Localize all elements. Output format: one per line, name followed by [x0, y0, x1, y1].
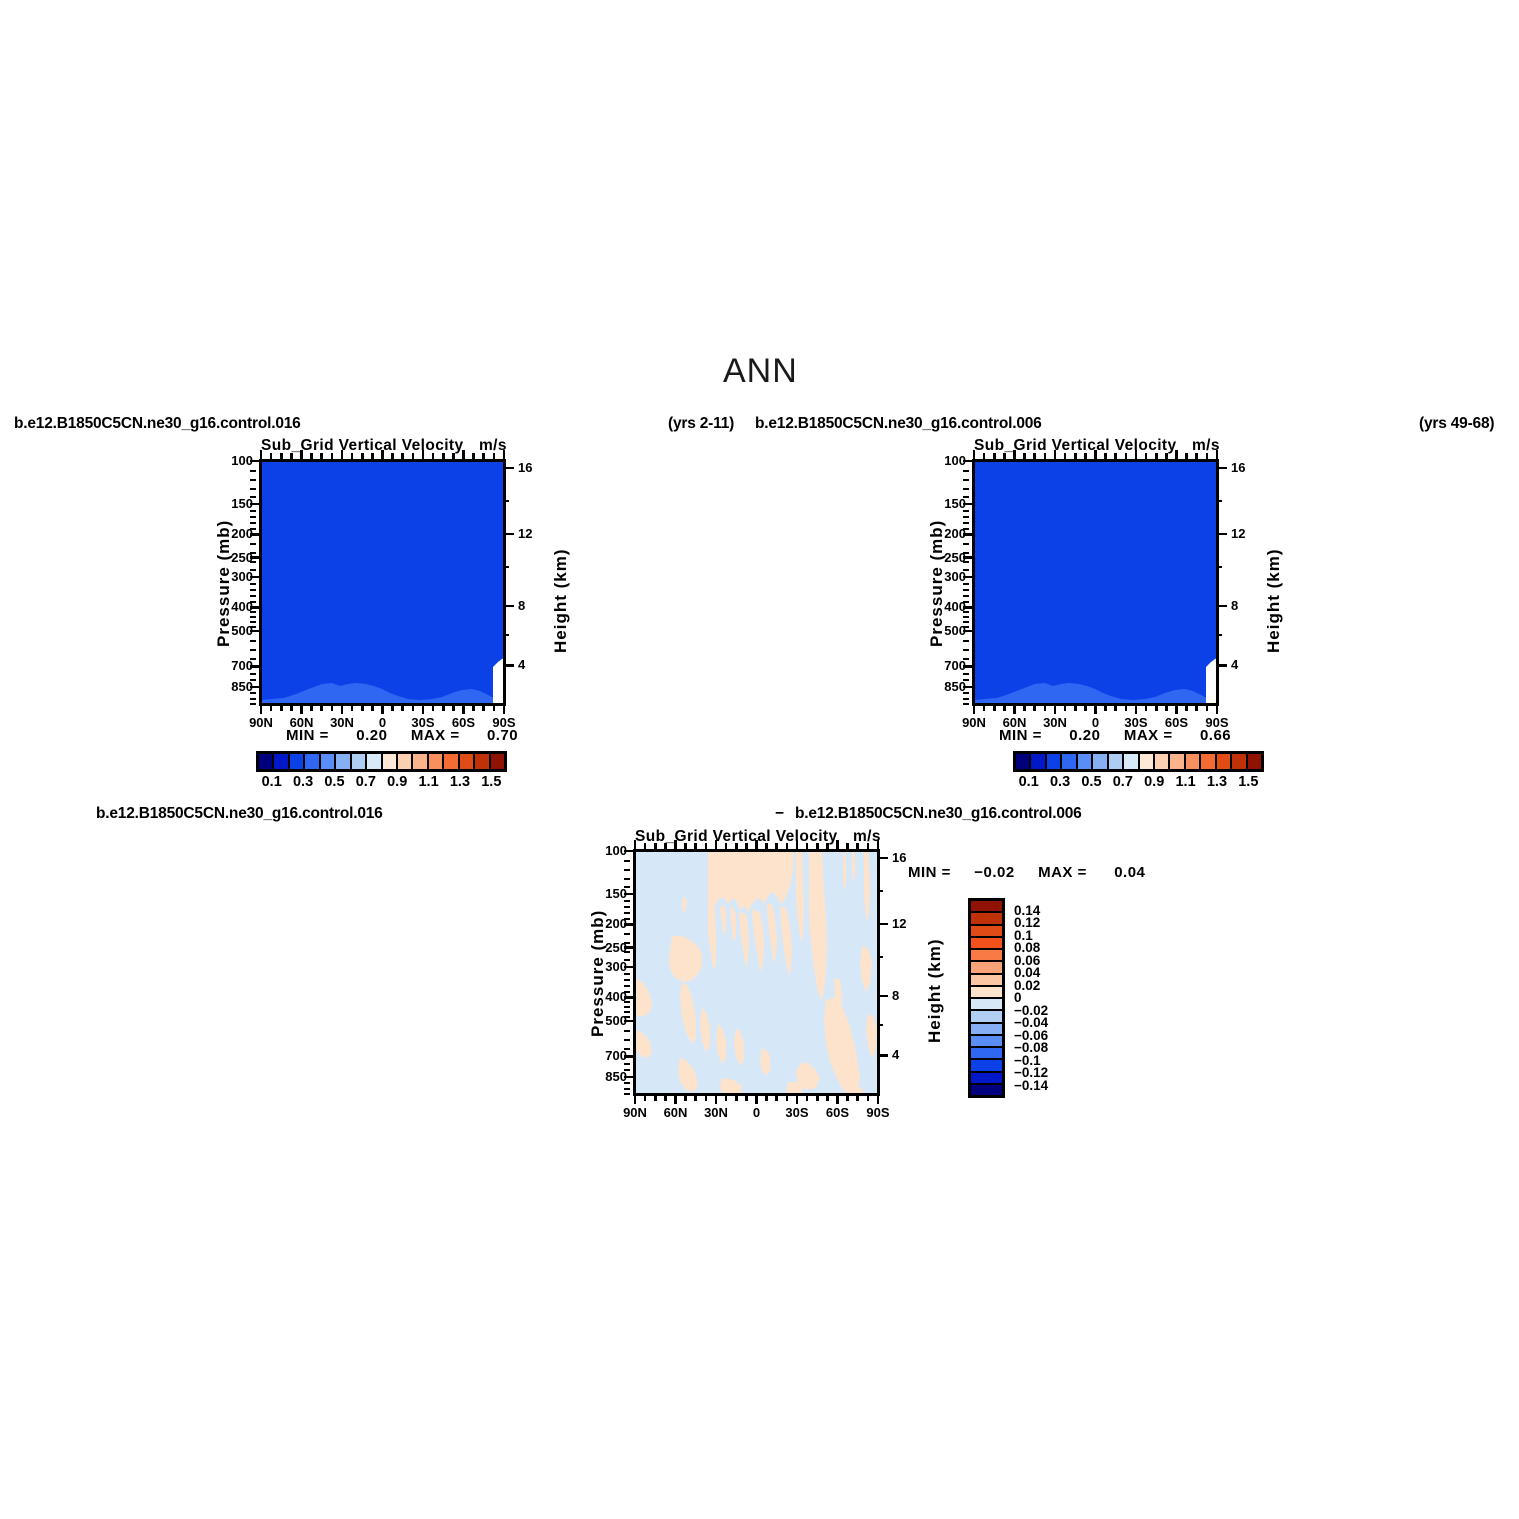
top-tick [1206, 453, 1209, 461]
colorbar-tick-label: 0.9 [387, 774, 407, 790]
top-tick [867, 843, 870, 851]
top-right-colorbar[interactable] [1013, 751, 1264, 772]
top-right-plot-area[interactable] [972, 459, 1219, 706]
latitude-tick-label: 30N [696, 1105, 736, 1120]
bottom-tick [664, 1094, 667, 1101]
top-tick [846, 843, 849, 851]
colorbar-tick-label: 0.5 [1081, 774, 1101, 790]
colorbar-swatch [1061, 753, 1076, 770]
top-tick [493, 453, 496, 461]
bottom-tick [331, 704, 334, 711]
bottom-tick [1023, 704, 1026, 711]
bottom-tick [1084, 704, 1087, 711]
bottom-tick [310, 704, 313, 711]
colorbar-swatch [335, 753, 350, 770]
pressure-tick-label: 500 [914, 623, 966, 638]
bottom-tick [1206, 704, 1209, 711]
height-tick-label: 4 [892, 1047, 922, 1062]
bottom-tick [1195, 704, 1198, 711]
top-tick [341, 450, 344, 461]
top-left-bottom-ticks [259, 704, 506, 715]
bottom-tick [280, 704, 283, 711]
colorbar-swatch [351, 753, 366, 770]
bottom-tick [1175, 704, 1178, 714]
top-tick [401, 453, 404, 461]
colorbar-swatch [1154, 753, 1169, 770]
height-minor-tick [1216, 500, 1222, 502]
bottom-tick [796, 1094, 799, 1104]
colorbar-swatch [1092, 753, 1107, 770]
top-left-max-value: 0.70 [487, 727, 518, 744]
height-tick [503, 664, 514, 667]
bottom-tick [493, 704, 496, 711]
top-left-min-value: 0.20 [356, 727, 387, 744]
bottom-tick [826, 1094, 829, 1101]
difference-right-ticks [877, 849, 891, 1096]
pressure-tick-label: 250 [201, 550, 253, 565]
top-tick [1074, 453, 1077, 461]
bottom-tick [765, 1094, 768, 1101]
top-tick [391, 453, 394, 461]
top-tick [422, 450, 425, 461]
bottom-tick [1054, 704, 1057, 714]
top-left-height-axis-title: Height (km) [551, 549, 571, 654]
pressure-tick-label: 150 [914, 496, 966, 511]
top-left-minmax: MIN = 0.20 MAX = 0.70 [286, 727, 518, 744]
colorbar-swatch [490, 753, 505, 770]
bottom-tick [320, 704, 323, 711]
top-tick [1013, 450, 1016, 461]
top-left-min-label: MIN = [286, 727, 329, 744]
top-right-min-label: MIN = [999, 727, 1042, 744]
difference-min-label: MIN = [908, 864, 951, 881]
difference-contour-field [636, 852, 879, 1095]
pressure-tick-label: 700 [914, 658, 966, 673]
height-tick [877, 995, 888, 998]
top-tick [1064, 453, 1067, 461]
top-tick [1044, 453, 1047, 461]
difference-colorbar-swatch [970, 949, 1003, 961]
height-tick [503, 467, 514, 470]
bottom-tick [1125, 704, 1128, 711]
height-tick [877, 923, 888, 926]
top-tick [755, 840, 758, 851]
top-tick [290, 453, 293, 461]
top-tick [715, 840, 718, 851]
colorbar-tick-label: 0.5 [324, 774, 344, 790]
pressure-tick-label: 100 [201, 453, 253, 468]
top-tick [300, 450, 303, 461]
top-tick [320, 453, 323, 461]
top-left-years-label: (yrs 2-11) [668, 415, 734, 433]
bottom-tick [472, 704, 475, 711]
bottom-tick [816, 1094, 819, 1101]
height-tick [1216, 467, 1227, 470]
pressure-tick-label: 400 [914, 599, 966, 614]
colorbar-tick-label: 1.3 [1207, 774, 1227, 790]
height-minor-tick [877, 956, 883, 958]
pressure-tick-label: 200 [914, 526, 966, 541]
difference-colorbar-swatch [970, 998, 1003, 1010]
latitude-tick-label: 60S [818, 1105, 858, 1120]
top-right-height-tick-labels: 161284 [1231, 459, 1261, 706]
height-tick-label: 12 [1231, 526, 1261, 541]
difference-minus-sign: − [775, 805, 784, 823]
colorbar-tick-label: 0.3 [1050, 774, 1070, 790]
pressure-tick-label: 700 [201, 658, 253, 673]
top-tick [331, 453, 334, 461]
top-tick [983, 453, 986, 461]
top-tick [1104, 453, 1107, 461]
difference-colorbar-labels: 0.140.120.10.080.060.040.020−0.02−0.04−0… [1010, 898, 1070, 1098]
pressure-tick-label: 700 [575, 1048, 627, 1063]
pressure-tick-label: 850 [575, 1069, 627, 1084]
bottom-tick [442, 704, 445, 711]
colorbar-swatch [412, 753, 427, 770]
bottom-tick [983, 704, 986, 711]
height-minor-tick [877, 890, 883, 892]
latitude-tick-label: 0 [737, 1105, 777, 1120]
colorbar-swatch [366, 753, 381, 770]
colorbar-swatch [397, 753, 412, 770]
top-left-top-ticks [259, 450, 506, 461]
bottom-tick [1165, 704, 1168, 711]
bottom-tick [1185, 704, 1188, 711]
top-tick [765, 843, 768, 851]
top-tick [270, 453, 273, 461]
top-tick [684, 843, 687, 851]
top-tick [462, 450, 465, 461]
pressure-tick-label: 300 [201, 569, 253, 584]
top-right-minmax: MIN = 0.20 MAX = 0.66 [999, 727, 1231, 744]
top-left-right-ticks [503, 459, 517, 706]
height-tick-label: 16 [892, 850, 922, 865]
latitude-tick-label: 90N [954, 715, 994, 730]
difference-max-value: 0.04 [1114, 864, 1145, 881]
top-right-colorbar-labels: 0.10.30.50.70.91.11.31.5 [1013, 774, 1264, 794]
colorbar-swatch [273, 753, 288, 770]
bottom-tick [1135, 704, 1138, 714]
latitude-tick-label: 30S [777, 1105, 817, 1120]
top-tick [1114, 453, 1117, 461]
bottom-tick [644, 1094, 647, 1101]
colorbar-tick-label: 1.1 [418, 774, 438, 790]
height-tick-label: 4 [1231, 657, 1261, 672]
top-tick [1003, 453, 1006, 461]
colorbar-tick-label: 0.9 [1144, 774, 1164, 790]
height-minor-tick [1216, 566, 1222, 568]
top-tick [1175, 450, 1178, 461]
pressure-tick-label: 100 [575, 843, 627, 858]
top-left-colorbar[interactable] [256, 751, 507, 772]
top-left-contour-field [262, 462, 505, 705]
top-left-colorbar-labels: 0.10.30.50.70.91.11.31.5 [256, 774, 507, 794]
bottom-tick [775, 1094, 778, 1101]
height-tick [1216, 533, 1227, 536]
bottom-tick [432, 704, 435, 711]
bottom-tick [412, 704, 415, 711]
top-right-pressure-tick-labels: 100150200250300400500700850 [914, 459, 966, 706]
colorbar-tick-label: 1.5 [481, 774, 501, 790]
colorbar-swatch [1015, 753, 1030, 770]
colorbar-swatch [1139, 753, 1154, 770]
difference-case-label-right: b.e12.B1850C5CN.ne30_g16.control.006 [795, 805, 1082, 823]
bottom-tick [867, 1094, 870, 1101]
difference-pressure-tick-labels: 100150200250300400500700850 [575, 849, 627, 1096]
top-tick [674, 840, 677, 851]
top-tick [1125, 453, 1128, 461]
top-tick [654, 843, 657, 851]
height-tick-label: 8 [892, 988, 922, 1003]
top-tick [1165, 453, 1168, 461]
pressure-tick-label: 850 [914, 679, 966, 694]
colorbar-swatch [1231, 753, 1246, 770]
top-tick [1155, 453, 1158, 461]
colorbar-swatch [428, 753, 443, 770]
difference-top-ticks [633, 840, 880, 851]
bottom-tick [1044, 704, 1047, 711]
bottom-tick [452, 704, 455, 711]
height-tick [1216, 605, 1227, 608]
difference-height-axis-title: Height (km) [925, 939, 945, 1044]
pressure-tick-label: 150 [575, 886, 627, 901]
top-tick [644, 843, 647, 851]
top-left-pressure-tick-labels: 100150200250300400500700850 [201, 459, 253, 706]
colorbar-swatch [382, 753, 397, 770]
colorbar-swatch [1169, 753, 1184, 770]
bottom-tick [1094, 704, 1097, 714]
top-tick [826, 843, 829, 851]
top-tick [1135, 450, 1138, 461]
bottom-tick [745, 1094, 748, 1101]
bottom-tick [1013, 704, 1016, 714]
top-tick [1084, 453, 1087, 461]
difference-colorbar-swatch [970, 986, 1003, 998]
bottom-tick [422, 704, 425, 714]
bottom-tick [401, 704, 404, 711]
pressure-tick-label: 250 [914, 550, 966, 565]
top-tick [412, 453, 415, 461]
bottom-tick [1104, 704, 1107, 711]
height-tick-label: 8 [518, 598, 548, 613]
top-tick [1054, 450, 1057, 461]
top-tick [1094, 450, 1097, 461]
bottom-tick [371, 704, 374, 711]
bottom-tick [1155, 704, 1158, 711]
difference-colorbar-swatch [970, 1047, 1003, 1059]
colorbar-tick-label: 0.7 [356, 774, 376, 790]
colorbar-swatch [1030, 753, 1045, 770]
pressure-tick-label: 850 [201, 679, 253, 694]
top-tick [371, 453, 374, 461]
top-right-min-value: 0.20 [1069, 727, 1100, 744]
top-tick [1145, 453, 1148, 461]
difference-max-label: MAX = [1038, 864, 1087, 881]
top-tick [1033, 453, 1036, 461]
bottom-tick [856, 1094, 859, 1101]
difference-colorbar[interactable] [968, 898, 1005, 1098]
colorbar-swatch [1077, 753, 1092, 770]
difference-colorbar-swatch [970, 1059, 1003, 1071]
bottom-tick [1033, 704, 1036, 711]
top-right-bottom-ticks [972, 704, 1219, 715]
bottom-tick [786, 1094, 789, 1101]
colorbar-swatch [1123, 753, 1138, 770]
pressure-tick-label: 300 [575, 959, 627, 974]
colorbar-swatch [304, 753, 319, 770]
top-tick [1195, 453, 1198, 461]
bottom-tick [1074, 704, 1077, 711]
bottom-tick [846, 1094, 849, 1101]
height-tick-label: 12 [892, 916, 922, 931]
bottom-tick [391, 704, 394, 711]
bottom-tick [694, 1094, 697, 1101]
bottom-tick [674, 1094, 677, 1104]
bottom-tick [654, 1094, 657, 1101]
top-tick [735, 843, 738, 851]
bottom-tick [735, 1094, 738, 1101]
top-tick [856, 843, 859, 851]
height-tick-label: 12 [518, 526, 548, 541]
difference-plot-area[interactable] [633, 849, 880, 1096]
top-tick [694, 843, 697, 851]
colorbar-tick-label: 0.7 [1113, 774, 1133, 790]
top-tick [745, 843, 748, 851]
bottom-tick [381, 704, 384, 714]
top-right-top-ticks [972, 450, 1219, 461]
season-title: ANN [723, 352, 798, 391]
colorbar-swatch [443, 753, 458, 770]
colorbar-swatch [1247, 753, 1262, 770]
colorbar-tick-label: 0.3 [293, 774, 313, 790]
top-tick [705, 843, 708, 851]
colorbar-tick-label: 1.1 [1175, 774, 1195, 790]
pressure-tick-label: 400 [575, 989, 627, 1004]
top-tick [452, 453, 455, 461]
difference-height-tick-labels: 161284 [892, 849, 922, 1096]
top-tick [1185, 453, 1188, 461]
top-tick [786, 843, 789, 851]
colorbar-swatch [1108, 753, 1123, 770]
bottom-tick [993, 704, 996, 711]
bottom-tick [725, 1094, 728, 1101]
difference-colorbar-swatch [970, 1035, 1003, 1047]
bottom-tick [1064, 704, 1067, 711]
top-tick [725, 843, 728, 851]
colorbar-swatch [258, 753, 273, 770]
colorbar-tick-label: 1.5 [1238, 774, 1258, 790]
difference-colorbar-swatch [970, 1010, 1003, 1022]
pressure-tick-label: 100 [914, 453, 966, 468]
bottom-tick [351, 704, 354, 711]
top-left-plot-area[interactable] [259, 459, 506, 706]
height-tick-label: 8 [1231, 598, 1261, 613]
top-tick [796, 840, 799, 851]
top-right-right-ticks [1216, 459, 1230, 706]
colorbar-swatch [1185, 753, 1200, 770]
difference-colorbar-swatch [970, 1072, 1003, 1084]
bottom-tick [270, 704, 273, 711]
latitude-tick-label: 90N [615, 1105, 655, 1120]
bottom-tick [300, 704, 303, 714]
top-right-height-axis-title: Height (km) [1264, 549, 1284, 654]
bottom-tick [806, 1094, 809, 1101]
difference-latitude-tick-labels: 90N60N30N030S60S90S [633, 1105, 880, 1123]
bottom-tick [836, 1094, 839, 1104]
top-tick [1023, 453, 1026, 461]
top-tick [381, 450, 384, 461]
colorbar-tick-label: 1.3 [450, 774, 470, 790]
height-minor-tick [503, 500, 509, 502]
top-tick [664, 843, 667, 851]
height-tick-label: 4 [518, 657, 548, 672]
height-tick [1216, 664, 1227, 667]
colorbar-swatch [1216, 753, 1231, 770]
colorbar-swatch [459, 753, 474, 770]
difference-minmax: MIN = −0.02 MAX = 0.04 [908, 864, 1145, 881]
top-tick [816, 843, 819, 851]
colorbar-tick-label: 0.1 [262, 774, 282, 790]
height-tick [877, 857, 888, 860]
bottom-tick [1114, 704, 1117, 711]
pressure-tick-label: 200 [201, 526, 253, 541]
top-tick [482, 453, 485, 461]
height-minor-tick [1216, 634, 1222, 636]
height-tick [503, 533, 514, 536]
colorbar-tick-label: 0.1 [1019, 774, 1039, 790]
height-tick-label: 16 [518, 460, 548, 475]
top-tick [775, 843, 778, 851]
pressure-tick-label: 500 [201, 623, 253, 638]
top-left-height-tick-labels: 161284 [518, 459, 548, 706]
top-tick [806, 843, 809, 851]
top-right-max-value: 0.66 [1200, 727, 1231, 744]
difference-bottom-ticks [633, 1094, 880, 1105]
difference-colorbar-swatch [970, 1084, 1003, 1096]
top-tick [836, 840, 839, 851]
height-minor-tick [503, 566, 509, 568]
top-left-max-label: MAX = [411, 727, 460, 744]
height-minor-tick [503, 634, 509, 636]
bottom-tick [1145, 704, 1148, 711]
difference-colorbar-swatch [970, 925, 1003, 937]
difference-colorbar-tick-label: −0.14 [1014, 1078, 1048, 1093]
height-minor-tick [877, 1024, 883, 1026]
bottom-tick [361, 704, 364, 711]
colorbar-swatch [1046, 753, 1061, 770]
top-right-case-label: b.e12.B1850C5CN.ne30_g16.control.006 [755, 415, 1042, 433]
top-tick [993, 453, 996, 461]
top-tick [280, 453, 283, 461]
bottom-tick [705, 1094, 708, 1101]
pressure-tick-label: 400 [201, 599, 253, 614]
bottom-tick [482, 704, 485, 711]
latitude-tick-label: 60N [656, 1105, 696, 1120]
difference-colorbar-swatch [970, 961, 1003, 973]
bottom-tick [684, 1094, 687, 1101]
latitude-tick-label: 90S [858, 1105, 898, 1120]
colorbar-swatch [474, 753, 489, 770]
difference-colorbar-swatch [970, 937, 1003, 949]
bottom-tick [715, 1094, 718, 1104]
pressure-tick-label: 300 [914, 569, 966, 584]
colorbar-swatch [320, 753, 335, 770]
pressure-tick-label: 500 [575, 1013, 627, 1028]
height-tick [877, 1054, 888, 1057]
top-tick [310, 453, 313, 461]
top-right-max-label: MAX = [1124, 727, 1173, 744]
top-left-case-label: b.e12.B1850C5CN.ne30_g16.control.016 [14, 415, 301, 433]
